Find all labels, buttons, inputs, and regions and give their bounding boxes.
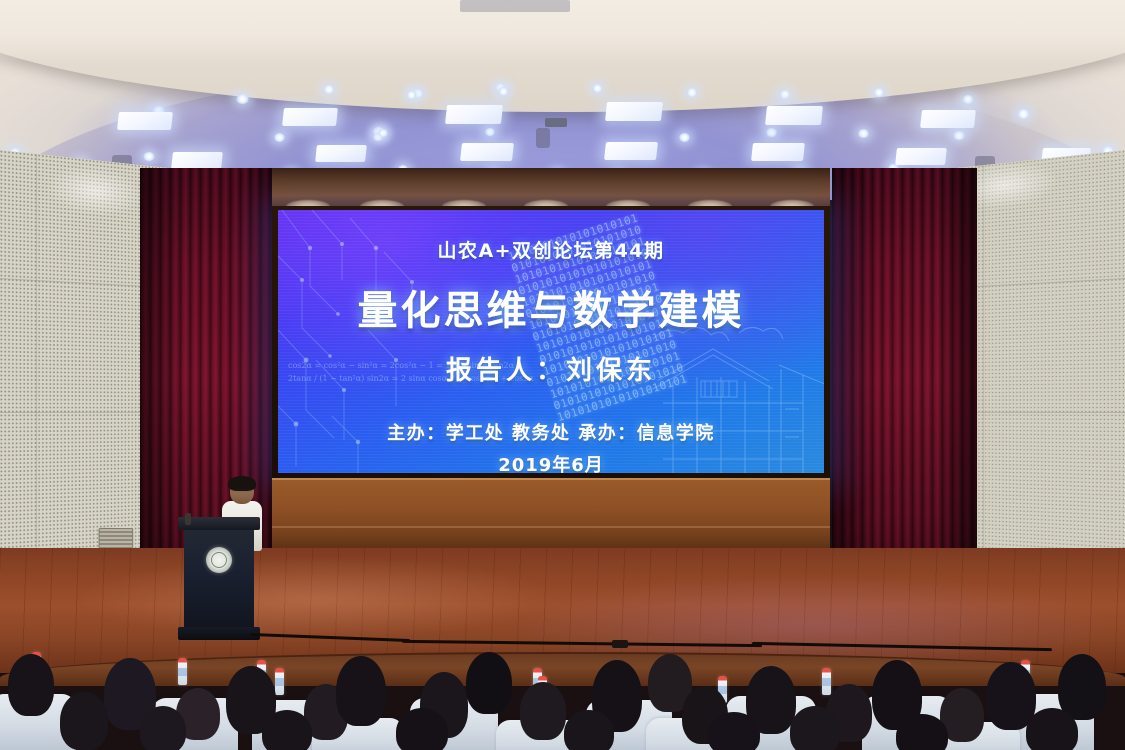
downlight-icon xyxy=(274,133,285,142)
audience-head xyxy=(262,710,312,750)
microphone-icon xyxy=(185,513,191,525)
downlight-icon xyxy=(766,128,777,137)
panel-light-icon xyxy=(920,110,976,128)
panel-light-icon xyxy=(315,145,367,162)
slide-speaker: 报告人：刘保东 xyxy=(278,350,824,387)
ceiling-speaker xyxy=(536,128,550,148)
panel-light-icon xyxy=(765,106,823,125)
panel-light-icon xyxy=(460,143,514,161)
audience-head xyxy=(466,652,512,714)
glasses-icon xyxy=(232,489,252,493)
downlight-icon xyxy=(143,152,155,161)
panel-light-icon xyxy=(282,108,338,126)
campus-building-illustration xyxy=(653,319,824,473)
downlight-icon xyxy=(1017,109,1030,119)
water-bottle xyxy=(822,668,831,695)
stage-back-wood-panel xyxy=(272,478,830,548)
downlight-icon xyxy=(592,84,603,93)
audience-head xyxy=(790,706,840,750)
podium-base xyxy=(178,627,260,640)
slide-kicker: 山农A+双创论坛第44期 xyxy=(278,236,824,263)
audience-area xyxy=(0,648,1125,750)
stage-monitor-speaker xyxy=(612,640,628,648)
led-screen-frame: 1010101010101010101 0101010101010101010 … xyxy=(272,206,830,478)
panel-light-icon xyxy=(445,105,503,124)
auditorium-photo: 1010101010101010101 0101010101010101010 … xyxy=(0,0,1125,750)
downlight-icon xyxy=(953,131,965,140)
downlight-icon xyxy=(485,128,495,136)
audience-head xyxy=(8,654,54,716)
audience-head xyxy=(564,710,614,750)
panel-light-icon xyxy=(605,102,663,121)
audience-head xyxy=(336,656,386,726)
panel-light-icon xyxy=(895,148,947,165)
downlight-icon xyxy=(779,90,791,99)
audience-head xyxy=(396,708,448,750)
downlight-icon xyxy=(236,94,249,104)
panel-light-icon xyxy=(751,143,805,161)
presentation-slide: 1010101010101010101 0101010101010101010 … xyxy=(278,210,824,473)
downlight-icon xyxy=(406,91,417,99)
slide-organizers: 主办：学工处 教务处 承办：信息学院 xyxy=(278,419,824,445)
panel-light-icon xyxy=(117,112,173,130)
downlight-icon xyxy=(873,88,885,97)
wall-glare xyxy=(45,161,143,220)
audience-head xyxy=(520,682,566,740)
podium-body xyxy=(184,529,254,629)
water-bottle xyxy=(275,668,284,695)
ceiling-vent xyxy=(460,0,570,12)
slide-title: 量化思维与数学建模 xyxy=(278,278,824,336)
downlight-icon xyxy=(679,133,690,142)
audience-head xyxy=(140,706,186,750)
downlight-icon xyxy=(323,85,335,94)
water-bottle xyxy=(178,658,187,685)
audience-head xyxy=(1026,708,1078,750)
downlight-icon xyxy=(378,129,388,137)
audience-head xyxy=(708,712,760,750)
audience-head xyxy=(896,714,948,750)
panel-light-icon xyxy=(171,152,223,169)
slide-date: 2019年6月 xyxy=(278,451,824,473)
podium xyxy=(184,517,254,640)
panel-light-icon xyxy=(604,142,658,160)
downlight-icon xyxy=(686,88,698,97)
university-crest-icon xyxy=(206,547,232,573)
downlight-icon xyxy=(858,129,869,138)
audience-head xyxy=(60,692,108,750)
stage-curtain-right xyxy=(832,168,977,608)
audience-head xyxy=(1058,654,1106,720)
downlight-icon xyxy=(962,95,974,104)
ceiling-projector xyxy=(545,118,567,127)
downlight-icon xyxy=(498,87,509,96)
